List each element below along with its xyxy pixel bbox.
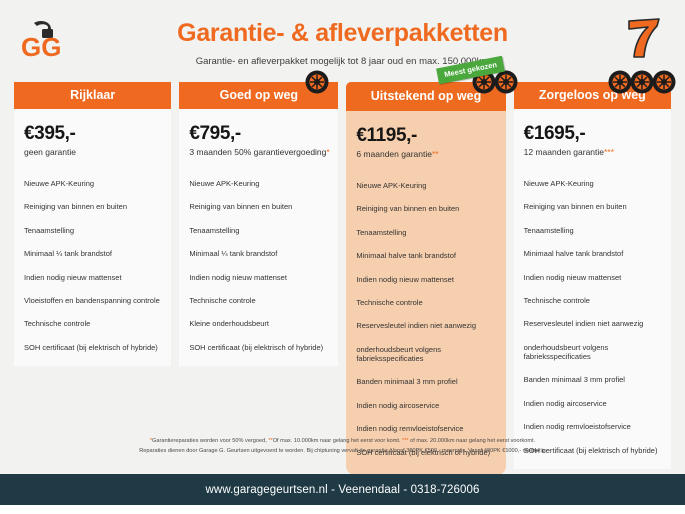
list-item: Tenaamstelling [24, 226, 161, 235]
list-item: Indien nodig aircoservice [356, 401, 495, 410]
package-body: €1195,- 6 maanden garantie** Nieuwe APK-… [346, 111, 505, 475]
feature-list: Nieuwe APK-Keuring Reiniging van binnen … [524, 179, 661, 455]
list-item: Tenaamstelling [189, 226, 328, 235]
feature-list: Nieuwe APK-Keuring Reiniging van binnen … [356, 181, 495, 457]
list-item: Indien nodig remvloeistofservice [524, 422, 661, 431]
package-body: €395,- geen garantie Nieuwe APK-Keuring … [14, 109, 171, 366]
page-header: GG Garantie- & afleverpakketten Garantie… [0, 0, 685, 82]
page-title: Garantie- & afleverpakketten [0, 19, 685, 48]
list-item: Kleine onderhoudsbeurt [189, 319, 328, 328]
list-item: Nieuwe APK-Keuring [356, 181, 495, 190]
package-warranty: 12 maanden garantie*** [524, 147, 661, 157]
footer-contact-text: www.garagegeurtsen.nl - Veenendaal - 031… [206, 484, 480, 496]
footnote-marker: ** [432, 149, 439, 159]
page-subtitle: Garantie- en afleverpakket mogelijk tot … [0, 56, 685, 67]
footnotes: *Garantiereparaties worden voor 50% verg… [0, 437, 685, 457]
feature-list: Nieuwe APK-Keuring Reiniging van binnen … [24, 179, 161, 352]
list-item: Nieuwe APK-Keuring [524, 179, 661, 188]
promo-page: GG Garantie- & afleverpakketten Garantie… [0, 0, 685, 514]
package-body: €1695,- 12 maanden garantie*** Nieuwe AP… [514, 109, 671, 469]
list-item: SOH certificaat (bij elektrisch of hybri… [24, 343, 161, 352]
list-item: Tenaamstelling [356, 228, 495, 237]
list-item: Reservesleutel indien niet aanwezig [356, 321, 495, 330]
footnote-line-1: *Garantiereparaties worden voor 50% verg… [60, 437, 625, 447]
package-price: €1695,- [524, 123, 661, 145]
list-item: Indien nodig nieuw mattenset [189, 273, 328, 282]
list-item: Banden minimaal 3 mm profiel [356, 377, 495, 386]
package-price: €395,- [24, 123, 161, 145]
feature-list: Nieuwe APK-Keuring Reiniging van binnen … [189, 179, 328, 352]
list-item: Reiniging van binnen en buiten [24, 202, 161, 211]
package-header: Uitstekend op weg [346, 82, 505, 111]
list-item: Indien nodig nieuw mattenset [24, 273, 161, 282]
list-item: Nieuwe APK-Keuring [24, 179, 161, 188]
list-item: Reservesleutel indien niet aanwezig [524, 319, 661, 328]
package-card-goed-op-weg[interactable]: Goed op weg €795,- 3 maanden 50% garanti… [179, 82, 338, 366]
package-header: Rijklaar [14, 82, 171, 109]
package-header: Goed op weg [179, 82, 338, 109]
footnote-line-2: Reparaties dienen door Garage G. Geurtse… [60, 447, 625, 457]
list-item: onderhoudsbeurt volgens fabrieksspecific… [356, 345, 495, 364]
package-price: €795,- [189, 123, 328, 145]
bottom-white-strip [0, 505, 685, 514]
list-item: Minimaal halve tank brandstof [524, 249, 661, 258]
list-item: Indien nodig nieuw mattenset [356, 275, 495, 284]
footnote-marker: * [326, 147, 329, 157]
list-item: Nieuwe APK-Keuring [189, 179, 328, 188]
package-card-uitstekend-op-weg[interactable]: Uitstekend op weg €1195,- 6 maanden gara… [346, 82, 505, 475]
list-item: Indien nodig nieuw mattenset [524, 273, 661, 282]
list-item: Banden minimaal 3 mm profiel [524, 375, 661, 384]
list-item: Minimaal ¼ tank brandstof [189, 249, 328, 258]
list-item: Technische controle [24, 319, 161, 328]
list-item: Technische controle [189, 296, 328, 305]
package-card-zorgeloos-op-weg[interactable]: Zorgeloos op weg €1695,- 12 maanden gara… [514, 82, 671, 469]
list-item: onderhoudsbeurt volgens fabrieksspecific… [524, 343, 661, 362]
list-item: Reiniging van binnen en buiten [524, 202, 661, 211]
list-item: Tenaamstelling [524, 226, 661, 235]
package-price: €1195,- [356, 125, 495, 147]
package-warranty: 6 maanden garantie** [356, 149, 495, 159]
package-warranty: geen garantie [24, 147, 161, 157]
list-item: Technische controle [524, 296, 661, 305]
list-item: Minimaal ¼ tank brandstof [24, 249, 161, 258]
list-item: SOH certificaat (bij elektrisch of hybri… [189, 343, 328, 352]
list-item: Minimaal halve tank brandstof [356, 251, 495, 260]
package-cards: Rijklaar €395,- geen garantie Nieuwe APK… [0, 82, 685, 475]
footer-bar: www.garagegeurtsen.nl - Veenendaal - 031… [0, 474, 685, 505]
package-body: €795,- 3 maanden 50% garantievergoeding*… [179, 109, 338, 366]
list-item: Indien nodig aircoservice [524, 399, 661, 408]
list-item: Reiniging van binnen en buiten [189, 202, 328, 211]
list-item: Technische controle [356, 298, 495, 307]
list-item: Vloeistoffen en bandenspanning controle [24, 296, 161, 305]
list-item: Indien nodig remvloeistofservice [356, 424, 495, 433]
seven-logo-icon [619, 12, 667, 62]
footnote-marker: *** [604, 147, 614, 157]
package-card-rijklaar[interactable]: Rijklaar €395,- geen garantie Nieuwe APK… [14, 82, 171, 366]
list-item: Reiniging van binnen en buiten [356, 204, 495, 213]
package-header: Zorgeloos op weg [514, 82, 671, 109]
package-warranty: 3 maanden 50% garantievergoeding* [189, 147, 328, 157]
